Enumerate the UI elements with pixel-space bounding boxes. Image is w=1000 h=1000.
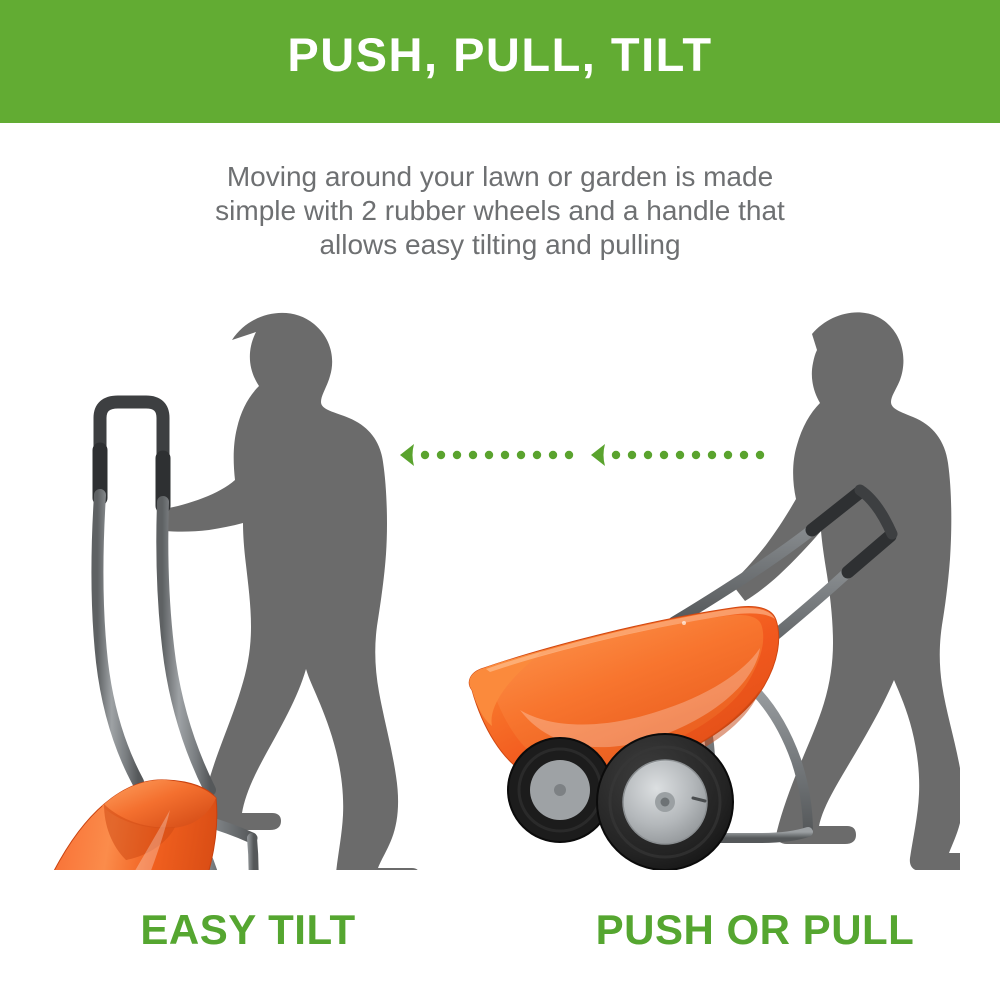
caption-push-or-pull: PUSH OR PULL — [540, 905, 970, 955]
subtitle-line-1: Moving around your lawn or garden is mad… — [150, 160, 850, 194]
page-title: PUSH, PULL, TILT — [0, 27, 1000, 83]
rubber-wheel-icon-rear — [508, 738, 612, 842]
product-feature-graphic: PUSH, PULL, TILT Moving around your lawn… — [0, 0, 1000, 1000]
person-silhouette-tilting-icon — [163, 313, 420, 870]
subtitle-line-3: allows easy tilting and pulling — [150, 228, 850, 262]
caption-easy-tilt: EASY TILT — [48, 905, 448, 955]
person-silhouette-pulling-icon — [731, 312, 960, 870]
scene-easy-tilt — [20, 290, 440, 870]
scene-push-or-pull — [460, 290, 960, 870]
rubber-wheel-icon-front — [597, 734, 733, 870]
header-band: PUSH, PULL, TILT — [0, 0, 1000, 123]
subtitle-text: Moving around your lawn or garden is mad… — [150, 160, 850, 262]
subtitle-line-2: simple with 2 rubber wheels and a handle… — [150, 194, 850, 228]
